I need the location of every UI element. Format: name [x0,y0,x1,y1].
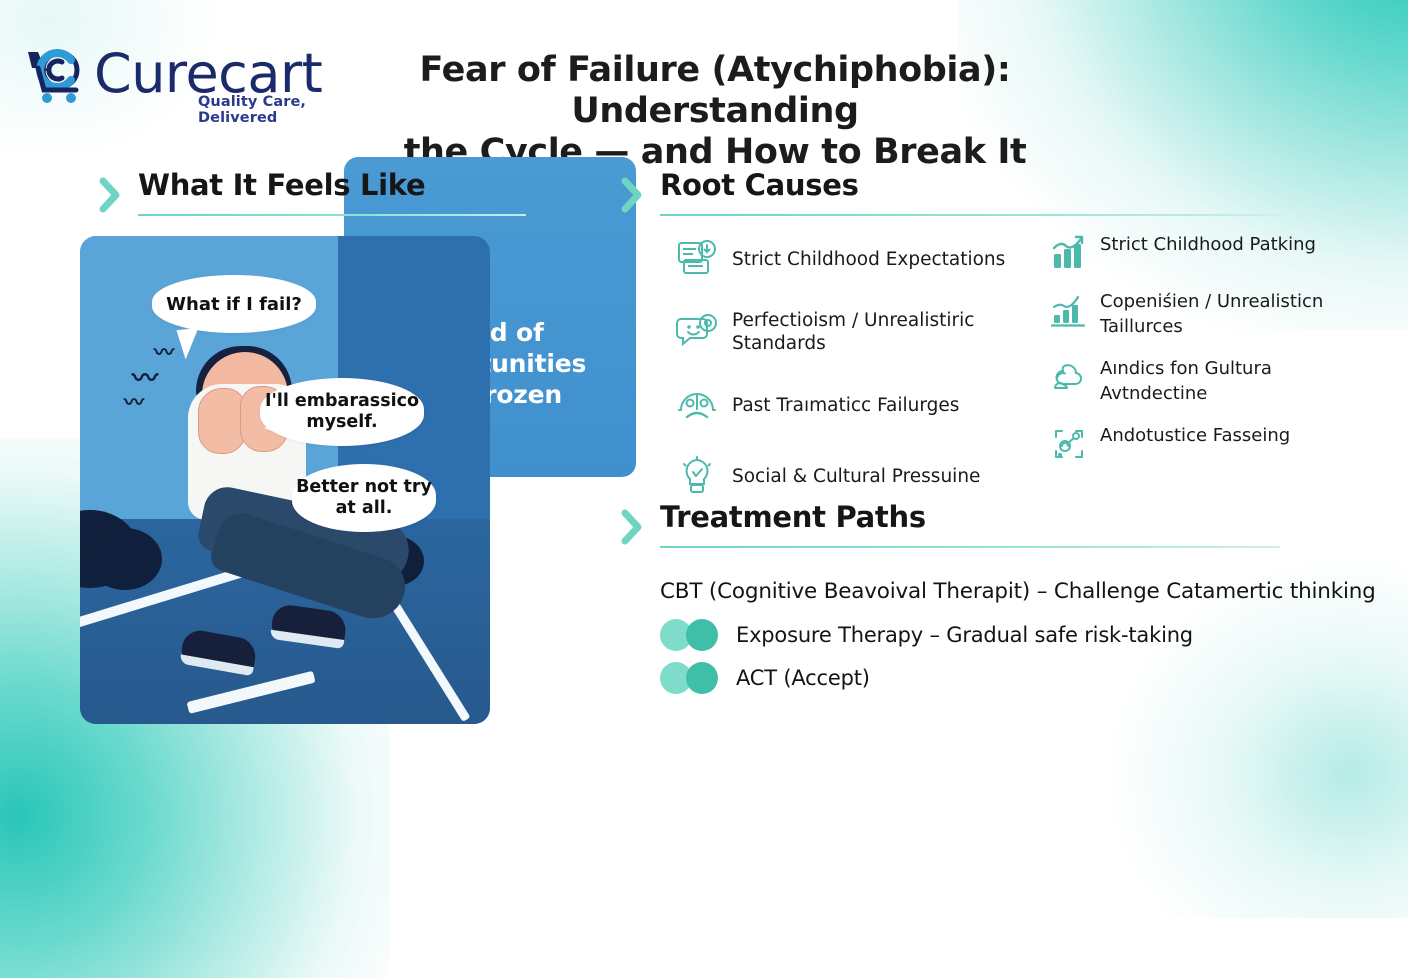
bar-chart-rising-icon [1050,234,1088,272]
bush-shape [88,528,162,590]
root-cause-item: Past Traımaticc Failurges [676,384,1056,426]
root-cause-item: Social & Cultural Pressuine [676,455,1056,497]
chat-bubble-face-icon [676,311,718,353]
sad-face-gauge-icon [676,384,718,426]
bubble-tail [264,418,292,438]
bubble-embarrass: I'll embarassico myself. [260,378,424,446]
root-cause-label: Social & Cultural Pressuine [732,465,980,488]
chevron-right-icon [620,509,644,545]
shopping-cart-c-icon [24,46,90,106]
dual-circle-bullet-icon [660,619,726,651]
root-causes-left-column: Strict Childhood Expectations Perfectioi… [676,238,1056,526]
section-title-root-causes: Root Causes [660,168,859,202]
section-title-treatment: Treatment Paths [660,500,926,534]
root-cause-item: Strict Childhood Patking [1050,232,1350,272]
brand-tagline: Quality Care, Delivered [198,94,334,126]
brand-logo[interactable]: Curecart Quality Care, Delivered [22,44,334,114]
root-cause-item: Perfectioism / Unrealistiric Standards [676,309,1056,355]
root-cause-label: Perfectioism / Unrealistiric Standards [732,309,1056,355]
root-cause-item: Copeniśien / Unrealisticn Taillurces [1050,289,1350,339]
anxiety-squiggle: 〰 [154,336,174,365]
root-cause-label: Aındics fon Gultura Avtndectine [1100,356,1350,406]
lightbulb-idea-icon [676,455,718,497]
network-nodes-icon [1050,425,1088,463]
document-checklist-icon [676,238,718,280]
bar-chart-growth-icon [1050,291,1088,329]
dual-circle-bullet-icon [660,662,726,694]
root-cause-item: Andotustice Fasseing [1050,423,1350,463]
root-cause-item: Strict Childhood Expectations [676,238,1056,280]
treatment-item: Exposure Therapy – Gradual safe risk-tak… [660,613,1320,656]
bubble-text: Better not try at all. [292,477,436,519]
bubble-what-if-i-fail: What if I fail? [152,275,316,333]
root-causes-right-column: Strict Childhood Patking Copeniśien / Un… [1050,232,1350,480]
page-title: Fear of Failure (Atychiphobia): Understa… [352,50,1078,173]
root-cause-label: Andotustice Fasseing [1100,423,1290,448]
infographic-page: Curecart Quality Care, Delivered Fear of… [0,0,1408,768]
page-title-line-1: Fear of Failure (Atychiphobia): Understa… [352,50,1078,132]
chevron-right-icon [98,177,122,213]
section-title-feels: What It Feels Like [138,168,425,202]
anxiety-squiggle: 〰 [124,386,144,415]
treatment-item: CBT (Cognitive Beavoival Therapit) – Cha… [660,570,1320,613]
treatment-label: Exposure Therapy – Gradual safe risk-tak… [736,623,1193,647]
treatment-paths-list: CBT (Cognitive Beavoival Therapit) – Cha… [660,570,1320,699]
bubble-text: What if I fail? [166,294,302,315]
person-hand-left [198,388,246,454]
root-cause-label: Strict Childhood Patking [1100,232,1316,257]
root-cause-label: Strict Childhood Expectations [732,248,1005,271]
section-rule-root-causes [660,214,1280,216]
chevron-right-icon [620,177,644,213]
root-cause-item: Aındics fon Gultura Avtndectine [1050,356,1350,406]
bubble-better-not-try: Better not try at all. [292,464,436,532]
treatment-item: ACT (Accept) [660,656,1320,699]
treatment-label: CBT (Cognitive Beavoival Therapit) – Cha… [660,579,1376,604]
cloud-icon [1050,358,1088,396]
treatment-label: ACT (Accept) [736,666,870,690]
section-rule-feels [138,214,526,216]
bubble-tail [176,328,201,360]
section-rule-treatment [660,546,1280,548]
root-cause-label: Past Traımaticc Failurges [732,394,959,417]
root-cause-label: Copeniśien / Unrealisticn Taillurces [1100,289,1350,339]
